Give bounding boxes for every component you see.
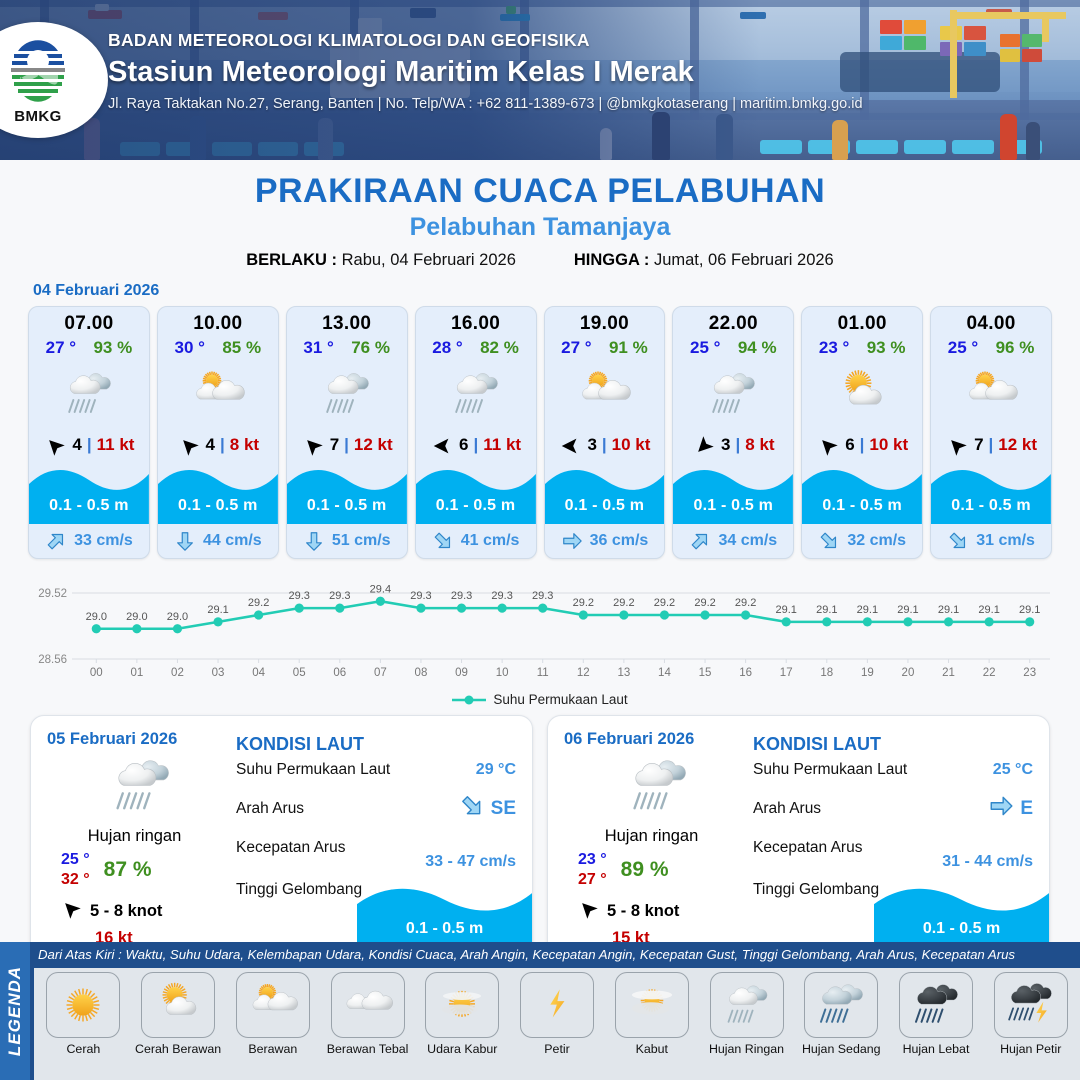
svg-text:29.2: 29.2 — [735, 597, 756, 609]
card-wind-dir-slot — [558, 435, 582, 455]
legend-icon-box — [141, 972, 215, 1038]
svg-text:01: 01 — [130, 667, 143, 679]
contact-info: Jl. Raya Taktakan No.27, Serang, Banten … — [108, 96, 1058, 112]
svg-text:05: 05 — [293, 667, 306, 679]
daily-temp-max: 27 ° — [578, 870, 607, 890]
card-wind-degree: 7 — [974, 435, 983, 455]
card-wave: 0.1 - 0.5 m — [545, 462, 665, 524]
wave-label: Tinggi Gelombang — [236, 881, 362, 898]
legend-item: Cerah Berawan — [131, 972, 226, 1080]
card-humidity: 76 % — [351, 338, 390, 358]
svg-text:29.3: 29.3 — [329, 590, 350, 602]
daily-wind: 5 - 8 knot — [47, 898, 236, 925]
page-subtitle: Pelabuhan Tamanjaya — [0, 213, 1080, 242]
card-weather-icon-slot — [673, 358, 793, 430]
legend-note: Dari Atas Kiri : Waktu, Suhu Udara, Kele… — [38, 947, 1015, 962]
wind-direction-icon — [43, 435, 67, 457]
chart-legend-label: Suhu Permukaan Laut — [493, 692, 627, 707]
card-time: 22.00 — [673, 307, 793, 335]
hujan-sedang-icon — [813, 977, 869, 1033]
legend-item: Petir — [510, 972, 605, 1080]
current-dir-value-wrap: SE — [459, 793, 516, 825]
card-wave-height: 0.1 - 0.5 m — [802, 497, 922, 515]
card-temp-hum: 27 ° 93 % — [29, 335, 149, 358]
svg-text:10: 10 — [496, 667, 509, 679]
current-dir-label: Arah Arus — [236, 800, 304, 818]
svg-text:12: 12 — [577, 667, 590, 679]
hujan-lebat-icon — [908, 977, 964, 1033]
daily-temp-max: 32 ° — [61, 870, 90, 890]
cerah-icon — [55, 977, 111, 1033]
card-weather-icon-slot — [931, 358, 1051, 430]
card-wind-dir-slot — [430, 435, 454, 455]
card-weather-icon-slot — [287, 358, 407, 430]
legend-item: Udara Kabur — [415, 972, 510, 1080]
legend-icon-strip: Cerah Cerah Berawan Berawan — [34, 968, 1080, 1080]
card-current-dir-slot — [818, 530, 840, 552]
chart-legend: Suhu Permukaan Laut — [0, 692, 1080, 707]
daily-current-dir-slot — [988, 793, 1014, 825]
svg-text:29.3: 29.3 — [491, 590, 512, 602]
card-wind-speed: 11 kt — [97, 435, 135, 455]
legend-icon-box — [331, 972, 405, 1038]
daily-wave-value: 0.1 - 0.5 m — [874, 920, 1049, 938]
card-temp-hum: 28 ° 82 % — [416, 335, 536, 358]
card-current: 31 cm/s — [931, 524, 1051, 558]
card-wind-degree: 3 — [587, 435, 596, 455]
svg-text:29.2: 29.2 — [248, 597, 269, 609]
legend-item: Berawan — [225, 972, 320, 1080]
legend-item-label: Cerah Berawan — [135, 1042, 221, 1056]
svg-text:29.2: 29.2 — [654, 597, 675, 609]
card-current-speed: 36 cm/s — [590, 532, 649, 550]
card-humidity: 96 % — [996, 338, 1035, 358]
card-time: 13.00 — [287, 307, 407, 335]
svg-text:03: 03 — [212, 667, 225, 679]
card-wave-height: 0.1 - 0.5 m — [158, 497, 278, 515]
card-temp-hum: 25 ° 94 % — [673, 335, 793, 358]
card-wind-speed: 8 kt — [745, 435, 774, 455]
svg-text:29.3: 29.3 — [288, 590, 309, 602]
card-wind-separator: | — [87, 435, 92, 455]
daily-weather-icon-slot — [564, 747, 753, 825]
hourly-card[interactable]: 16.00 28 ° 82 % 6 | 11 kt 0.1 - 0.5 m — [415, 306, 537, 559]
validity-row: BERLAKU : Rabu, 04 Februari 2026 HINGGA … — [0, 251, 1080, 270]
daily-temp-min: 25 ° — [61, 850, 90, 870]
daily-current-dir-slot — [459, 793, 485, 825]
current-direction-icon — [947, 530, 969, 552]
svg-text:09: 09 — [455, 667, 468, 679]
card-wind-speed: 12 kt — [998, 435, 1037, 455]
svg-text:28.56: 28.56 — [38, 654, 67, 666]
svg-text:16: 16 — [739, 667, 752, 679]
wind-direction-icon — [558, 435, 582, 457]
current-direction-icon — [303, 530, 325, 552]
hourly-card[interactable]: 22.00 25 ° 94 % 3 | 8 kt 0.1 - 0.5 m — [672, 306, 794, 559]
legend-item-label: Hujan Sedang — [802, 1042, 881, 1056]
card-weather-icon-slot — [416, 358, 536, 430]
hourly-card[interactable]: 04.00 25 ° 96 % 7 | 12 kt 0.1 - 0.5 m — [930, 306, 1052, 559]
svg-text:20: 20 — [902, 667, 915, 679]
hourly-date-label: 04 Februari 2026 — [33, 282, 1080, 300]
svg-text:06: 06 — [333, 667, 346, 679]
daily-temp-min: 23 ° — [578, 850, 607, 870]
card-current: 33 cm/s — [29, 524, 149, 558]
card-wind-degree: 6 — [459, 435, 468, 455]
daily-wind: 5 - 8 knot — [564, 898, 753, 925]
card-wind-speed: 12 kt — [354, 435, 393, 455]
card-time: 16.00 — [416, 307, 536, 335]
bmkg-emblem-icon — [0, 35, 76, 107]
card-wind-dir-slot — [945, 435, 969, 455]
card-wind: 7 | 12 kt — [287, 430, 407, 460]
card-wind: 6 | 10 kt — [802, 430, 922, 460]
card-current: 34 cm/s — [673, 524, 793, 558]
kabut-icon — [624, 977, 680, 1033]
svg-text:04: 04 — [252, 667, 265, 679]
legend-icon-box — [804, 972, 878, 1038]
legend-item-label: Hujan Petir — [1000, 1042, 1061, 1056]
wind-direction-icon — [945, 435, 969, 457]
hujan-petir-icon — [1003, 977, 1059, 1033]
legend-item: Hujan Lebat — [889, 972, 984, 1080]
svg-text:29.2: 29.2 — [694, 597, 715, 609]
sst-value: 25 °C — [993, 761, 1033, 779]
current-direction-icon — [561, 530, 583, 552]
current-dir-value: SE — [491, 798, 516, 820]
svg-text:29.1: 29.1 — [938, 604, 959, 616]
card-current-speed: 31 cm/s — [976, 532, 1035, 550]
sst-row: Suhu Permukaan Laut 29 °C — [236, 761, 516, 779]
wave-label: Tinggi Gelombang — [753, 881, 879, 898]
svg-text:29.0: 29.0 — [167, 611, 188, 623]
legend-side-label: LEGENDA — [5, 966, 25, 1056]
svg-text:29.0: 29.0 — [126, 611, 147, 623]
sst-row: Suhu Permukaan Laut 25 °C — [753, 761, 1033, 779]
berawan-icon — [245, 977, 301, 1033]
daily-humidity: 89 % — [621, 858, 669, 882]
card-wind-dir-slot — [43, 435, 67, 455]
svg-text:29.1: 29.1 — [857, 604, 878, 616]
svg-text:29.3: 29.3 — [532, 590, 553, 602]
card-humidity: 93 % — [867, 338, 906, 358]
daily-weather-icon-slot — [47, 747, 236, 825]
hourly-card[interactable]: 01.00 23 ° 93 % 6 | 10 kt 0.1 - 0.5 m — [801, 306, 923, 559]
card-weather-icon-slot — [545, 358, 665, 430]
daily-condition: Hujan ringan — [564, 827, 753, 846]
petir-icon — [529, 977, 585, 1033]
card-wind-degree: 7 — [330, 435, 339, 455]
card-humidity: 85 % — [222, 338, 261, 358]
svg-text:29.3: 29.3 — [451, 590, 472, 602]
card-current-dir-slot — [45, 530, 67, 552]
legend-item-label: Hujan Lebat — [903, 1042, 970, 1056]
card-wind-speed: 10 kt — [869, 435, 908, 455]
card-wave: 0.1 - 0.5 m — [931, 462, 1051, 524]
card-current-speed: 51 cm/s — [332, 532, 391, 550]
card-wind-separator: | — [474, 435, 479, 455]
card-current: 36 cm/s — [545, 524, 665, 558]
current-dir-row: Arah Arus E — [753, 793, 1033, 825]
svg-text:17: 17 — [780, 667, 793, 679]
card-wave-height: 0.1 - 0.5 m — [416, 497, 536, 515]
card-wind-speed: 10 kt — [612, 435, 651, 455]
daily-temp-hum: 25 ° 32 ° 87 % — [47, 850, 236, 890]
chart-svg: 29.5228.5629.00029.00129.00229.10329.204… — [14, 569, 1066, 689]
card-wind: 4 | 11 kt — [29, 430, 149, 460]
bmkg-logo-text: BMKG — [14, 108, 61, 125]
hourly-card[interactable]: 19.00 27 ° 91 % 3 | 10 kt 0.1 - 0.5 m — [544, 306, 666, 559]
svg-text:29.1: 29.1 — [978, 604, 999, 616]
svg-text:14: 14 — [658, 667, 671, 679]
card-current-dir-slot — [561, 530, 583, 552]
card-temp-hum: 30 ° 85 % — [158, 335, 278, 358]
svg-text:08: 08 — [415, 667, 428, 679]
card-wind-separator: | — [860, 435, 865, 455]
current-direction-icon — [818, 530, 840, 552]
card-wind-speed: 11 kt — [483, 435, 521, 455]
daily-wind-range: 5 - 8 knot — [90, 902, 162, 921]
card-wave-height: 0.1 - 0.5 m — [545, 497, 665, 515]
current-dir-value-wrap: E — [988, 793, 1033, 825]
card-temp-hum: 31 ° 76 % — [287, 335, 407, 358]
card-time: 19.00 — [545, 307, 665, 335]
card-current: 44 cm/s — [158, 524, 278, 558]
svg-text:11: 11 — [537, 667, 549, 679]
svg-text:00: 00 — [90, 667, 103, 679]
current-direction-icon — [988, 793, 1014, 819]
wind-direction-icon — [177, 435, 201, 457]
card-wind-dir-slot — [816, 435, 840, 455]
card-wind-dir-slot — [301, 435, 325, 455]
daily-sea: KONDISI LAUT Suhu Permukaan Laut 25 °C A… — [753, 716, 1049, 962]
daily-card[interactable]: 05 Februari 2026 Hujan ringan 25 ° 32 ° … — [30, 715, 533, 963]
card-current-speed: 44 cm/s — [203, 532, 262, 550]
card-current-dir-slot — [303, 530, 325, 552]
legend-icon-box — [615, 972, 689, 1038]
current-direction-icon — [689, 530, 711, 552]
card-temperature: 25 ° — [690, 338, 720, 358]
daily-sea: KONDISI LAUT Suhu Permukaan Laut 29 °C A… — [236, 716, 532, 962]
svg-text:29.2: 29.2 — [573, 597, 594, 609]
svg-text:29.4: 29.4 — [370, 583, 391, 595]
current-speed-label-row: Kecepatan Arus — [236, 839, 516, 857]
card-humidity: 93 % — [93, 338, 132, 358]
current-dir-row: Arah Arus SE — [236, 793, 516, 825]
svg-text:29.0: 29.0 — [86, 611, 107, 623]
svg-text:29.52: 29.52 — [38, 588, 67, 600]
sst-label: Suhu Permukaan Laut — [236, 761, 390, 779]
berawan-icon — [961, 364, 1021, 424]
sea-title: KONDISI LAUT — [236, 734, 516, 755]
hingga-value: Jumat, 06 Februari 2026 — [654, 251, 834, 269]
legend-item-label: Berawan — [248, 1042, 297, 1056]
card-humidity: 82 % — [480, 338, 519, 358]
wind-direction-icon — [301, 435, 325, 457]
card-time: 01.00 — [802, 307, 922, 335]
page-title-block: PRAKIRAAN CUACA PELABUHAN Pelabuhan Tama… — [0, 160, 1080, 270]
daily-card[interactable]: 06 Februari 2026 Hujan ringan 23 ° 27 ° … — [547, 715, 1050, 963]
legend-icon-box — [710, 972, 784, 1038]
card-wind-separator: | — [344, 435, 349, 455]
card-wind: 4 | 8 kt — [158, 430, 278, 460]
hourly-card[interactable]: 13.00 31 ° 76 % 7 | 12 kt 0.1 - 0.5 m — [286, 306, 408, 559]
card-temp-hum: 25 ° 96 % — [931, 335, 1051, 358]
station-name: Stasiun Meteorologi Maritim Kelas I Mera… — [108, 56, 1058, 89]
wind-direction-icon — [692, 435, 716, 457]
card-current: 51 cm/s — [287, 524, 407, 558]
berlaku: BERLAKU : Rabu, 04 Februari 2026 — [246, 251, 516, 270]
daily-humidity: 87 % — [104, 858, 152, 882]
card-wind-degree: 6 — [845, 435, 854, 455]
legend-marker-icon — [452, 694, 486, 706]
current-direction-icon — [174, 530, 196, 552]
berlaku-label: BERLAKU : — [246, 251, 337, 269]
card-temperature: 25 ° — [948, 338, 978, 358]
legend-section: LEGENDA Dari Atas Kiri : Waktu, Suhu Uda… — [0, 942, 1080, 1080]
card-current: 41 cm/s — [416, 524, 536, 558]
hujan-ringan-icon — [317, 364, 377, 424]
card-current-speed: 41 cm/s — [461, 532, 520, 550]
hourly-card[interactable]: 07.00 27 ° 93 % 4 | 11 kt 0.1 - 0.5 m — [28, 306, 150, 559]
legend-item: Hujan Sedang — [794, 972, 889, 1080]
legend-item: Berawan Tebal — [320, 972, 415, 1080]
daily-wave-graphic: 0.1 - 0.5 m — [357, 880, 532, 948]
card-wave: 0.1 - 0.5 m — [802, 462, 922, 524]
current-dir-value: E — [1020, 798, 1033, 820]
legend-icon-box — [425, 972, 499, 1038]
legend-item-label: Cerah — [66, 1042, 100, 1056]
card-wind-dir-slot — [177, 435, 201, 455]
hourly-card[interactable]: 10.00 30 ° 85 % 4 | 8 kt 0.1 - 0.5 m — [157, 306, 279, 559]
card-current-dir-slot — [174, 530, 196, 552]
svg-text:29.1: 29.1 — [816, 604, 837, 616]
card-weather-icon-slot — [29, 358, 149, 430]
legend-item-label: Petir — [544, 1042, 569, 1056]
udara-kabur-icon — [434, 977, 490, 1033]
daily-wave-graphic: 0.1 - 0.5 m — [874, 880, 1049, 948]
daily-temp-hum: 23 ° 27 ° 89 % — [564, 850, 753, 890]
legend-icon-box — [994, 972, 1068, 1038]
card-wave-height: 0.1 - 0.5 m — [673, 497, 793, 515]
card-humidity: 91 % — [609, 338, 648, 358]
svg-text:29.3: 29.3 — [410, 590, 431, 602]
svg-text:13: 13 — [617, 667, 630, 679]
cerah-berawan-icon — [832, 364, 892, 424]
legend-item: Hujan Petir — [983, 972, 1078, 1080]
svg-text:29.2: 29.2 — [613, 597, 634, 609]
legend-icon-box — [236, 972, 310, 1038]
current-speed-label: Kecepatan Arus — [753, 839, 862, 856]
card-temperature: 28 ° — [432, 338, 462, 358]
hingga-label: HINGGA : — [574, 251, 649, 269]
current-speed-label: Kecepatan Arus — [236, 839, 345, 856]
card-temperature: 27 ° — [561, 338, 591, 358]
svg-text:02: 02 — [171, 667, 184, 679]
svg-text:21: 21 — [942, 667, 955, 679]
sst-chart: 29.5228.5629.00029.00129.00229.10329.204… — [14, 569, 1066, 689]
daily-condition: Hujan ringan — [47, 827, 236, 846]
card-wind-speed: 8 kt — [230, 435, 259, 455]
hujan-ringan-icon — [59, 364, 119, 424]
hujan-ringan-icon — [622, 749, 696, 823]
berawan-tebal-icon — [340, 977, 396, 1033]
card-wave-height: 0.1 - 0.5 m — [287, 497, 407, 515]
svg-text:19: 19 — [861, 667, 874, 679]
cerah-berawan-icon — [150, 977, 206, 1033]
daily-left: 06 Februari 2026 Hujan ringan 23 ° 27 ° … — [548, 716, 753, 962]
svg-text:22: 22 — [983, 667, 996, 679]
card-wave: 0.1 - 0.5 m — [287, 462, 407, 524]
card-current-dir-slot — [689, 530, 711, 552]
berawan-icon — [574, 364, 634, 424]
card-wind: 3 | 10 kt — [545, 430, 665, 460]
card-time: 10.00 — [158, 307, 278, 335]
card-wave: 0.1 - 0.5 m — [416, 462, 536, 524]
card-temperature: 30 ° — [175, 338, 205, 358]
card-wind-degree: 4 — [206, 435, 215, 455]
card-wind-degree: 3 — [721, 435, 730, 455]
card-current-dir-slot — [432, 530, 454, 552]
legend-icon-box — [46, 972, 120, 1038]
card-wind: 7 | 12 kt — [931, 430, 1051, 460]
agency-name: BADAN METEOROLOGI KLIMATOLOGI DAN GEOFIS… — [108, 30, 1058, 51]
card-wave: 0.1 - 0.5 m — [158, 462, 278, 524]
daily-wind-range: 5 - 8 knot — [607, 902, 679, 921]
card-wind: 3 | 8 kt — [673, 430, 793, 460]
card-weather-icon-slot — [158, 358, 278, 430]
current-direction-icon — [45, 530, 67, 552]
card-wind-separator: | — [220, 435, 225, 455]
card-weather-icon-slot — [802, 358, 922, 430]
legend-icon-box — [899, 972, 973, 1038]
svg-text:07: 07 — [374, 667, 387, 679]
hujan-ringan-icon — [105, 749, 179, 823]
current-speed-label-row: Kecepatan Arus — [753, 839, 1033, 857]
card-time: 04.00 — [931, 307, 1051, 335]
card-wind-degree: 4 — [72, 435, 81, 455]
legend-item-label: Udara Kabur — [427, 1042, 497, 1056]
svg-text:29.1: 29.1 — [207, 604, 228, 616]
wind-direction-icon — [59, 898, 83, 920]
card-temperature: 31 ° — [303, 338, 333, 358]
daily-wave-value: 0.1 - 0.5 m — [357, 920, 532, 938]
legend-side-tab: LEGENDA — [0, 942, 30, 1080]
card-temperature: 23 ° — [819, 338, 849, 358]
card-wave: 0.1 - 0.5 m — [673, 462, 793, 524]
card-time: 07.00 — [29, 307, 149, 335]
berlaku-value: Rabu, 04 Februari 2026 — [342, 251, 516, 269]
card-current-speed: 33 cm/s — [74, 532, 133, 550]
svg-text:29.1: 29.1 — [1019, 604, 1040, 616]
svg-text:29.1: 29.1 — [897, 604, 918, 616]
hujan-ringan-icon — [446, 364, 506, 424]
card-current-speed: 34 cm/s — [718, 532, 777, 550]
berawan-icon — [188, 364, 248, 424]
legend-item: Kabut — [604, 972, 699, 1080]
card-wave-height: 0.1 - 0.5 m — [931, 497, 1051, 515]
card-humidity: 94 % — [738, 338, 777, 358]
daily-forecast-row: 05 Februari 2026 Hujan ringan 25 ° 32 ° … — [0, 707, 1080, 963]
current-dir-label: Arah Arus — [753, 800, 821, 818]
svg-text:18: 18 — [820, 667, 833, 679]
sea-title: KONDISI LAUT — [753, 734, 1033, 755]
card-temp-hum: 27 ° 91 % — [545, 335, 665, 358]
svg-text:29.1: 29.1 — [775, 604, 796, 616]
card-wind-separator: | — [602, 435, 607, 455]
daily-left: 05 Februari 2026 Hujan ringan 25 ° 32 ° … — [31, 716, 236, 962]
card-wind-separator: | — [989, 435, 994, 455]
